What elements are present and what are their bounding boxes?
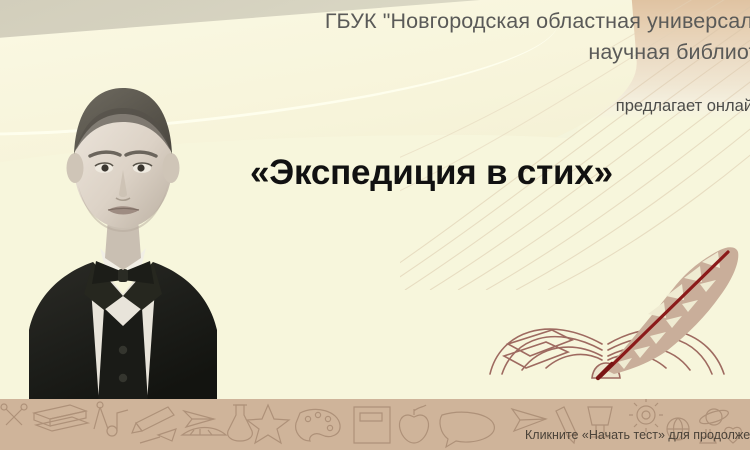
organization-name-line2: научная библиотека" [200, 37, 750, 68]
page-title: «Экспедиция в стих» [250, 152, 750, 194]
quill-and-book-illustration [488, 222, 750, 404]
organization-name: ГБУК "Новгородская областная универсальн… [200, 6, 750, 68]
portrait-photo [0, 58, 254, 403]
presentation-slide: ГБУК "Новгородская областная универсальн… [0, 0, 750, 450]
organization-name-line1: ГБУК "Новгородская областная универсальн… [325, 9, 750, 33]
quill-shaft [601, 252, 728, 376]
footer-hint-text: Кликните «Начать тест» для продолжения [300, 427, 750, 443]
offers-subtitle: предлагает онлайн-тест [330, 95, 750, 117]
